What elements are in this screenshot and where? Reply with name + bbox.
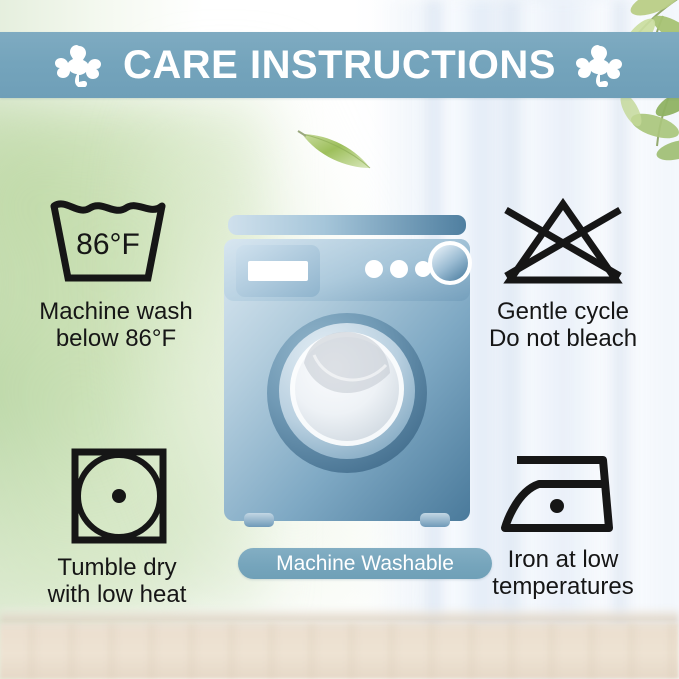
- care-instructions-infographic: CARE INSTRUCTIONS 86°F Machine wash: [0, 0, 679, 679]
- care-label-iron-low: Iron at low temperatures: [492, 546, 633, 601]
- care-label-line1: Machine wash: [39, 298, 192, 325]
- page-title: CARE INSTRUCTIONS: [123, 45, 556, 85]
- triangle-crossed-icon: [488, 196, 638, 292]
- care-label-line1: Iron at low: [492, 546, 633, 573]
- care-label-line2: temperatures: [492, 573, 633, 600]
- iron-one-dot-icon: [493, 444, 633, 540]
- wash-tub-icon: 86°F: [42, 196, 190, 292]
- care-item-do-not-bleach: Gentle cycle Do not bleach: [452, 196, 674, 353]
- care-label-line2: below 86°F: [39, 325, 192, 352]
- machine-foot-right: [420, 513, 450, 527]
- machine-washable-badge: Machine Washable: [238, 548, 492, 579]
- table-wood-grain: [0, 623, 679, 679]
- care-item-iron-low: Iron at low temperatures: [452, 444, 674, 601]
- tumble-dry-one-dot-icon: [63, 444, 171, 548]
- machine-door: [267, 313, 427, 473]
- care-item-machine-wash: 86°F Machine wash below 86°F: [10, 196, 222, 353]
- care-label-line1: Tumble dry: [48, 554, 187, 581]
- fleur-de-lis-left-icon: [53, 43, 105, 87]
- machine-top-lid: [228, 215, 466, 235]
- care-label-line1: Gentle cycle: [489, 298, 637, 325]
- care-label-do-not-bleach: Gentle cycle Do not bleach: [489, 298, 637, 353]
- machine-program-knob: [428, 241, 472, 285]
- care-label-machine-wash: Machine wash below 86°F: [39, 298, 192, 353]
- care-label-line2: Do not bleach: [489, 325, 637, 352]
- care-label-line2: with low heat: [48, 581, 187, 608]
- care-label-tumble-dry: Tumble dry with low heat: [48, 554, 187, 609]
- machine-button-1: [365, 260, 383, 278]
- care-item-tumble-dry: Tumble dry with low heat: [14, 444, 220, 609]
- wash-temperature-value: 86°F: [76, 228, 140, 261]
- table-edge: [0, 607, 679, 623]
- header-banner: CARE INSTRUCTIONS: [0, 32, 679, 98]
- badge-label: Machine Washable: [276, 553, 454, 574]
- machine-button-2: [390, 260, 408, 278]
- detergent-drawer: [236, 245, 320, 297]
- machine-foot-left: [244, 513, 274, 527]
- fleur-de-lis-right-icon: [574, 43, 626, 87]
- floating-leaf-icon: [296, 118, 382, 178]
- washing-machine-illustration: [222, 213, 472, 533]
